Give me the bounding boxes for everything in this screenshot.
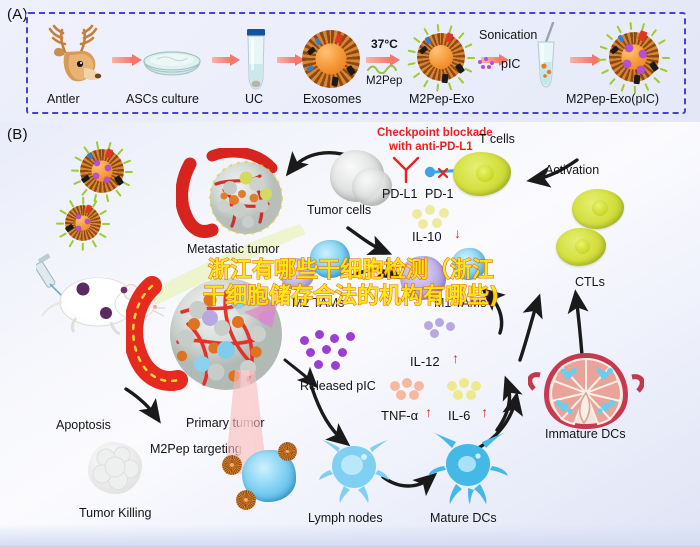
label-activation: Activation [545, 164, 599, 177]
label-checkpoint-blockade-line2: with anti-PD-L1 [389, 142, 473, 154]
label-il-10: IL-10 [412, 230, 442, 243]
centrifuge-tube-illustration [243, 28, 269, 97]
panel-a-annotation-m2pep: M2Pep [366, 76, 402, 88]
label-il-6: IL-6 [448, 409, 470, 422]
il-12-up-arrow: ↑ [452, 351, 459, 365]
arrow-antler-to-culture [112, 54, 142, 66]
panel-b-letter: (B) [7, 126, 28, 143]
label-pd-1: PD-1 [425, 188, 453, 201]
m1-tam-macrophage-2 [452, 248, 486, 280]
label-apoptosis: Apoptosis [56, 419, 111, 432]
arrow-uc-to-exosomes [277, 54, 305, 66]
il-6-cytokine-dots [447, 378, 489, 402]
panel-a: (A) [0, 0, 700, 122]
m2pep-exosome-pic-particle [603, 26, 665, 88]
label-pd-l1: PD-L1 [382, 188, 417, 201]
metastatic-tumor-illustration [176, 148, 306, 253]
label-released-pic: Released pIC [300, 380, 376, 393]
panel-a-step-label-uc: UC [245, 93, 263, 106]
il-12-cytokine-dots [424, 318, 464, 340]
panel-a-annotation-temperature: 37°C [371, 38, 398, 50]
label-m1-tams: M1 TAMs [434, 297, 486, 310]
pic-cargo-dot [625, 44, 633, 52]
targeting-nanoparticle-3 [278, 442, 297, 461]
il-10-down-arrow: ↓ [454, 226, 461, 240]
circulating-nanoparticle-small [62, 202, 104, 244]
antler-deer-illustration [40, 24, 110, 91]
label-immature-dcs: Lymph nodes [308, 512, 383, 525]
label-tumor-cells: Tumor cells [307, 204, 371, 217]
pic-particle-cluster [478, 57, 498, 71]
pic-cargo-dot [623, 60, 631, 68]
panel-a-step-label-exosomes: Exosomes [303, 93, 361, 106]
label-il-12: IL-12 [410, 355, 440, 368]
il-6-up-arrow: ↑ [481, 405, 488, 419]
immature-dc-illustration [318, 438, 390, 509]
panel-a-step-label-m2pep-exo: M2Pep-Exo [409, 93, 474, 106]
targeting-nanoparticle-2 [236, 490, 256, 510]
label-ctls: CTLs [575, 276, 605, 289]
panel-a-step-label-antler: Antler [47, 93, 80, 106]
m2pep-exosome-particle [412, 28, 470, 86]
label-checkpoint-blockade-line1: Checkpoint blockade [377, 128, 493, 140]
m2-tam-macrophage [400, 256, 446, 300]
scientific-figure: (A) [0, 0, 700, 547]
petri-dish-illustration [141, 48, 203, 83]
label-metastatic-tumor: Metastatic tumor [187, 243, 279, 256]
exosome-protein-tag-black-2 [331, 77, 338, 87]
m2pep-exo-tag-black-3 [442, 74, 449, 84]
exosome-particle [305, 33, 357, 85]
m2pep-peptide-squiggle [366, 62, 406, 74]
panel-a-annotation-pic: pIC [501, 58, 520, 71]
tnf-alpha-cytokine-dots [390, 378, 432, 402]
m1-tam-macrophage [310, 240, 350, 278]
arrow-culture-to-uc [212, 54, 240, 66]
apoptotic-tumor-cell [88, 442, 142, 494]
label-lymph-nodes: Immature DCs [545, 428, 626, 441]
released-pic-dots [300, 330, 360, 374]
pic-cargo-dot [637, 66, 645, 74]
targeting-nanoparticle-1 [222, 455, 242, 475]
pic-cargo-dot [639, 50, 647, 58]
m2pep-pic-tag-black-3 [634, 75, 641, 85]
circulating-nanoparticle-large [76, 145, 128, 197]
mature-dc-illustration [428, 432, 508, 509]
panel-a-letter: (A) [7, 6, 28, 23]
tnf-alpha-up-arrow: ↑ [425, 405, 432, 419]
panel-a-step-label-m2pep-exo-pic: M2Pep-Exo(pIC) [566, 93, 659, 106]
panel-a-annotation-sonication: Sonication [479, 29, 537, 42]
label-mature-dcs: Mature DCs [430, 512, 497, 525]
label-tumor-killing: Tumor Killing [79, 507, 151, 520]
label-tnf-alpha: TNF-α [381, 409, 418, 422]
sonication-tube-illustration [530, 22, 562, 97]
label-t-cells: T cells [479, 133, 515, 146]
panel-a-step-label-ascs-culture: ASCs culture [126, 93, 199, 106]
